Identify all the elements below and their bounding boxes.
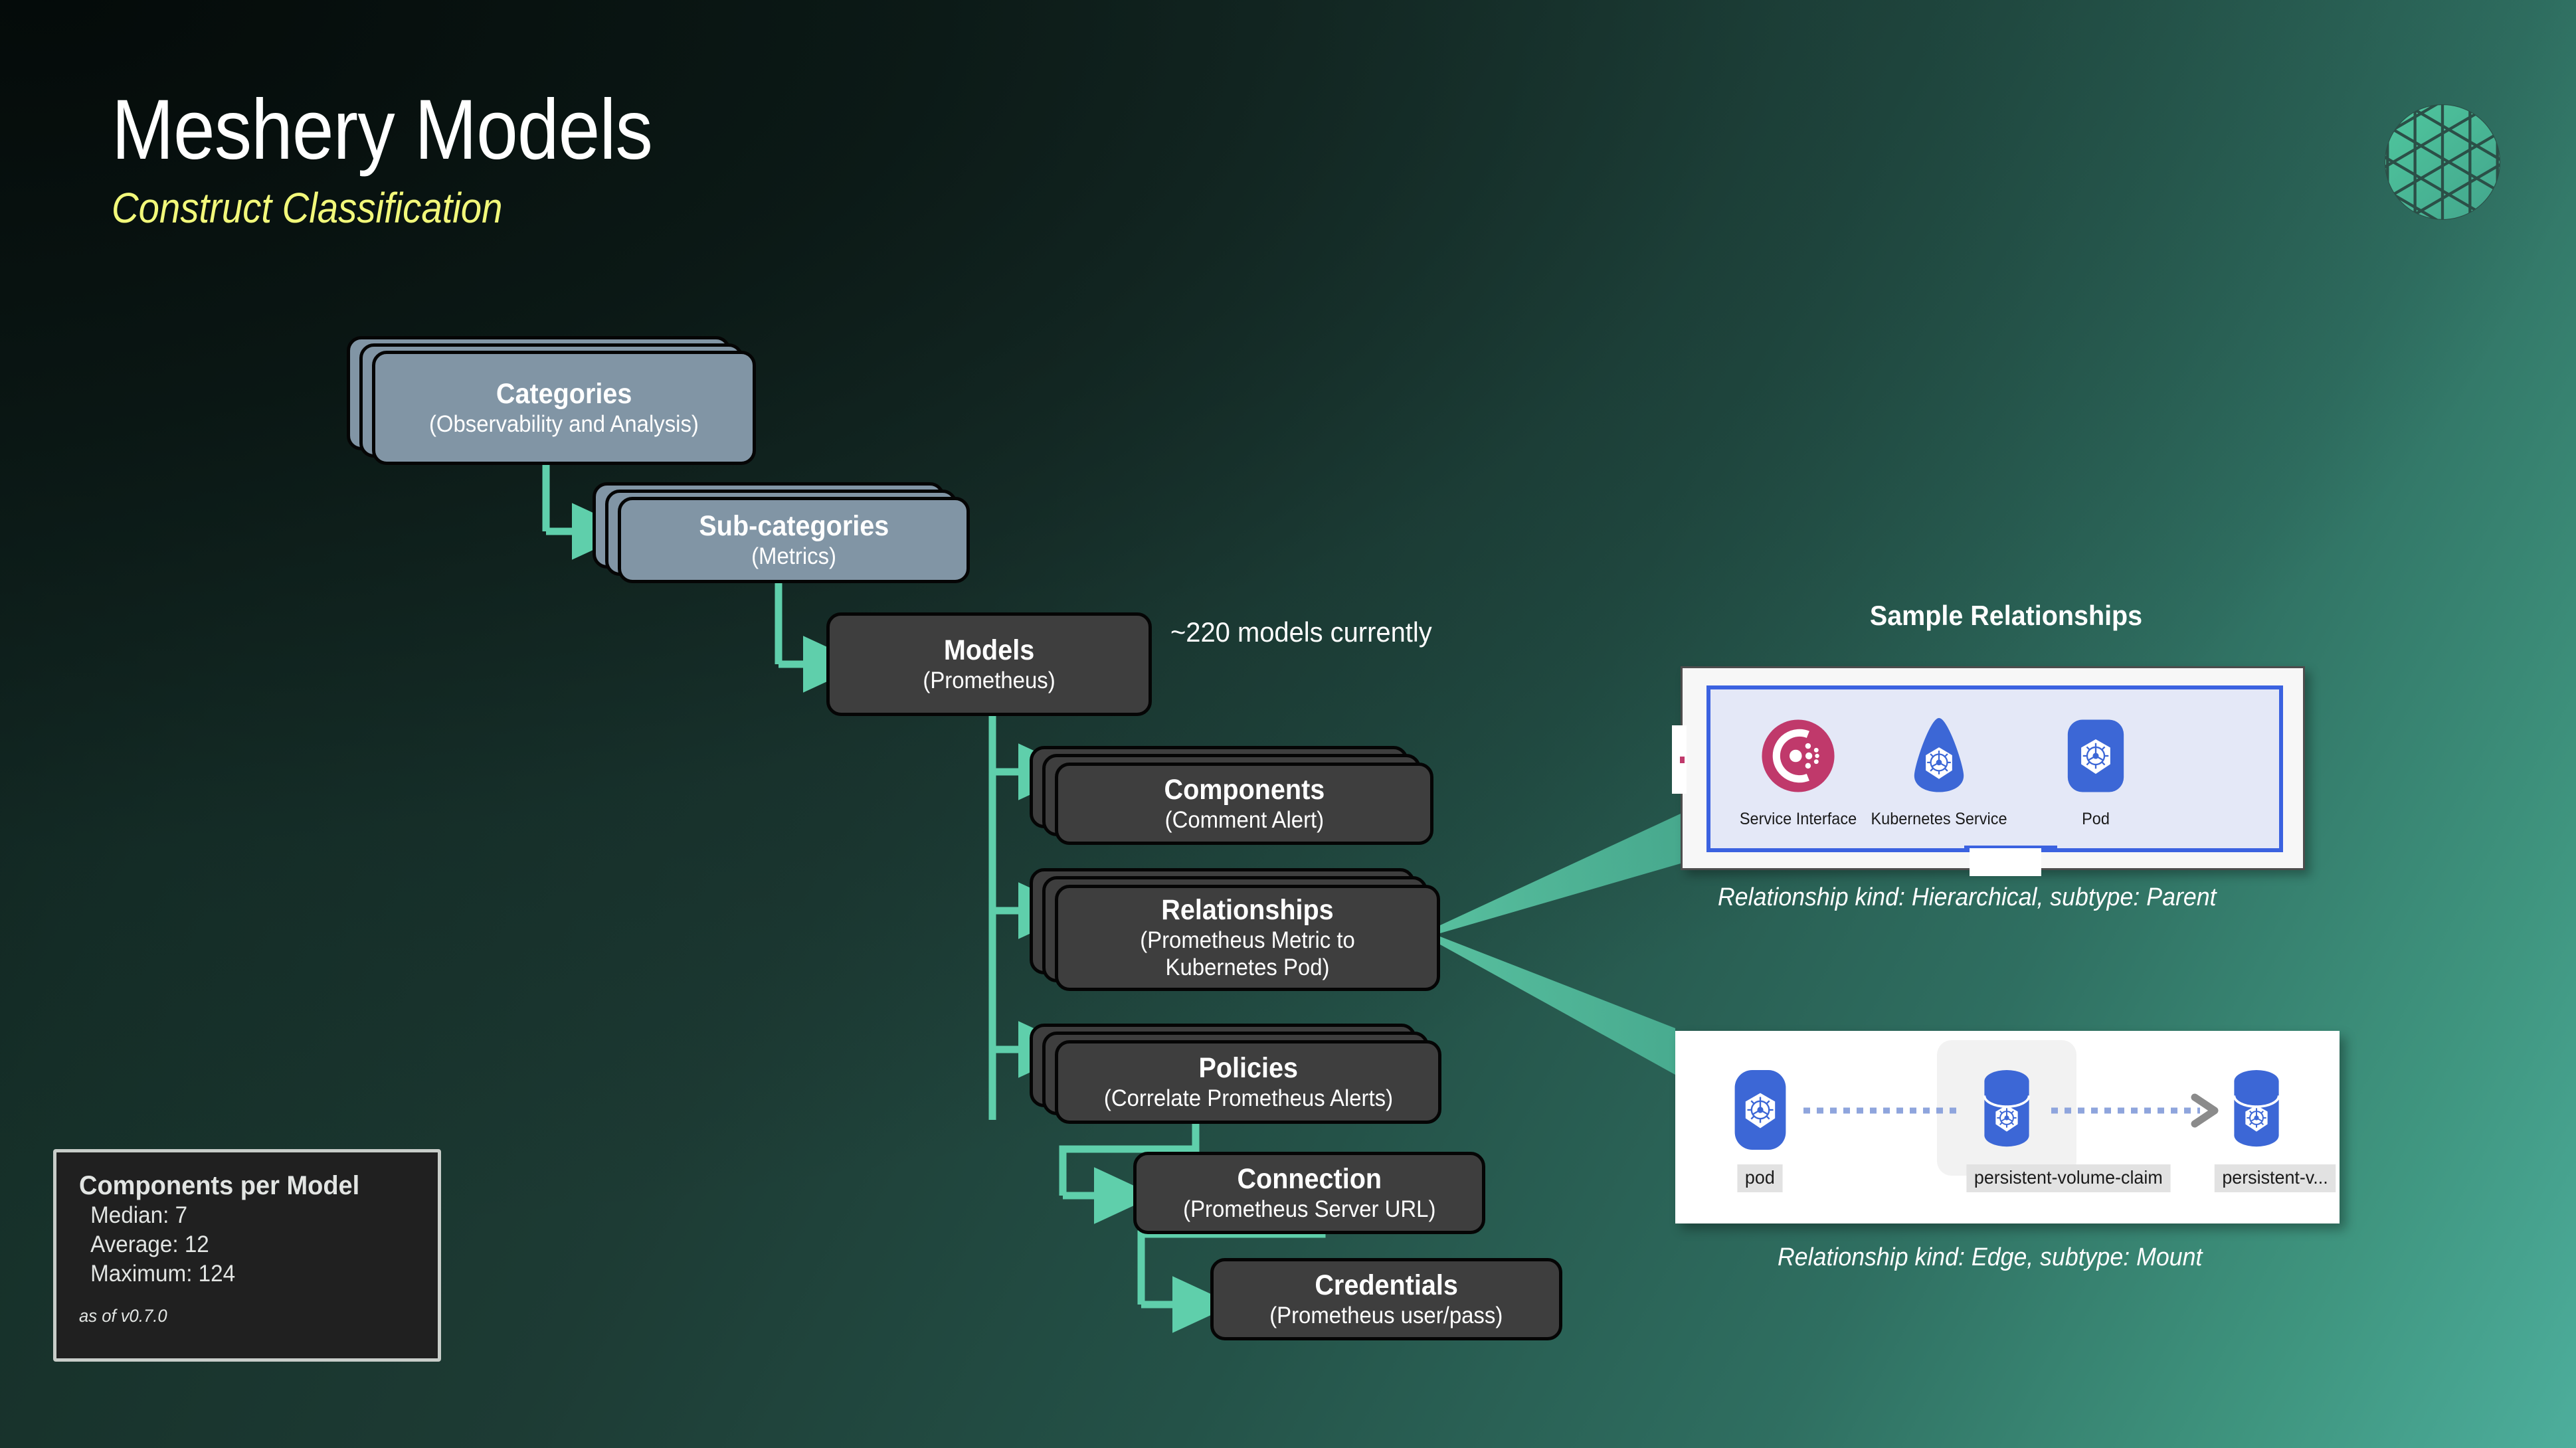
panel-b-item-label: persistent-v... [2215, 1164, 2336, 1192]
node-subtitle: (Metrics) [751, 543, 836, 571]
panel-b-item-label: persistent-volume-claim [1966, 1164, 2170, 1192]
node-subtitle: (Observability and Analysis) [429, 411, 699, 438]
slide-canvas: Meshery Models Construct Classification [0, 0, 2576, 1448]
kubernetes-pod-icon [2055, 788, 2137, 800]
stat-median: Median: 7 [79, 1201, 399, 1230]
stat-average: Average: 12 [79, 1230, 399, 1259]
node-card: Categories (Observability and Analysis) [372, 351, 756, 465]
node-title: Sub-categories [699, 510, 889, 542]
page-title: Meshery Models [112, 85, 652, 175]
node-subtitle: (Prometheus user/pass) [1269, 1303, 1503, 1330]
stat-maximum: Maximum: 124 [79, 1259, 399, 1289]
flow-node-categories[interactable]: Categories (Observability and Analysis) [372, 351, 756, 465]
node-card: Sub-categories (Metrics) [618, 497, 970, 583]
sample-item-label: Kubernetes Service [1871, 810, 2008, 829]
node-card: Components (Comment Alert) [1055, 763, 1433, 845]
meshery-logo [2380, 100, 2505, 225]
title-block: Meshery Models Construct Classification [112, 85, 726, 230]
flow-node-models[interactable]: Models (Prometheus) [826, 612, 1152, 716]
components-per-model-stats: Components per Model Median: 7 Average: … [53, 1149, 441, 1362]
panel-side-tab-dot [1680, 757, 1685, 763]
node-subtitle: (Prometheus) [923, 668, 1055, 695]
node-title: Connection [1237, 1163, 1382, 1195]
node-card: Models (Prometheus) [826, 612, 1152, 716]
stats-title: Components per Model [79, 1171, 399, 1201]
kubernetes-pvc-icon [1967, 1144, 2047, 1156]
node-card: Policies (Correlate Prometheus Alerts) [1055, 1040, 1441, 1124]
panel-b-item-pvc[interactable]: persistent-volume-claim [1962, 1067, 2051, 1192]
node-card: Connection (Prometheus Server URL) [1133, 1152, 1485, 1234]
relationship-panel-hierarchical[interactable]: Service Interface [1681, 666, 2305, 870]
relationship-panel-edge[interactable]: pod [1675, 1031, 2340, 1223]
kubernetes-service-icon [1898, 788, 1980, 800]
flow-node-relationships[interactable]: Relationships (Prometheus Metric to Kube… [1055, 885, 1440, 991]
node-title: Policies [1198, 1052, 1298, 1084]
node-title: Categories [496, 378, 632, 410]
models-count-note: ~220 models currently [1170, 616, 1432, 648]
node-subtitle: (Correlate Prometheus Alerts) [1103, 1085, 1392, 1113]
node-title: Models [944, 634, 1034, 666]
relationship-caption-edge: Relationship kind: Edge, subtype: Mount [1778, 1243, 2202, 1272]
panel-b-item-pod[interactable]: pod [1715, 1067, 1805, 1192]
kubernetes-pod-icon [1720, 1144, 1800, 1156]
flow-node-subcategories[interactable]: Sub-categories (Metrics) [618, 497, 970, 583]
node-subtitle: (Prometheus Metric to Kubernetes Pod) [1101, 927, 1394, 981]
flow-node-credentials[interactable]: Credentials (Prometheus user/pass) [1210, 1258, 1562, 1340]
panel-b-item-label: pod [1738, 1164, 1783, 1192]
node-title: Components [1164, 774, 1325, 806]
relationship-caption-hierarchical: Relationship kind: Hierarchical, subtype… [1718, 883, 2217, 912]
sample-item-pod[interactable]: Pod [2023, 715, 2169, 829]
node-card: Credentials (Prometheus user/pass) [1210, 1258, 1562, 1340]
stats-version-note: as of v0.7.0 [79, 1306, 399, 1326]
panel-bottom-notch [1970, 848, 2041, 876]
sample-relationships-heading: Sample Relationships [1844, 600, 2169, 632]
panel-b-item-pv[interactable]: persistent-v... [2212, 1067, 2301, 1192]
node-subtitle: (Prometheus Server URL) [1183, 1196, 1435, 1223]
flow-node-policies[interactable]: Policies (Correlate Prometheus Alerts) [1055, 1040, 1441, 1124]
node-subtitle: (Comment Alert) [1164, 807, 1323, 834]
service-interface-icon [1757, 788, 1839, 800]
sample-item-label: Pod [2027, 810, 2165, 829]
sample-item-service-interface[interactable]: Service Interface [1725, 715, 1871, 829]
flow-node-components[interactable]: Components (Comment Alert) [1055, 763, 1433, 845]
node-card: Relationships (Prometheus Metric to Kube… [1055, 885, 1440, 991]
page-subtitle: Construct Classification [112, 186, 652, 230]
sample-item-label: Service Interface [1730, 810, 1867, 829]
panel-selection-frame: Service Interface [1706, 685, 2283, 852]
node-title: Relationships [1161, 894, 1333, 926]
node-title: Credentials [1315, 1269, 1457, 1301]
kubernetes-pv-icon [2217, 1144, 2296, 1156]
flow-node-connection[interactable]: Connection (Prometheus Server URL) [1133, 1152, 1485, 1234]
sample-item-kubernetes-service[interactable]: Kubernetes Service [1866, 715, 2012, 829]
